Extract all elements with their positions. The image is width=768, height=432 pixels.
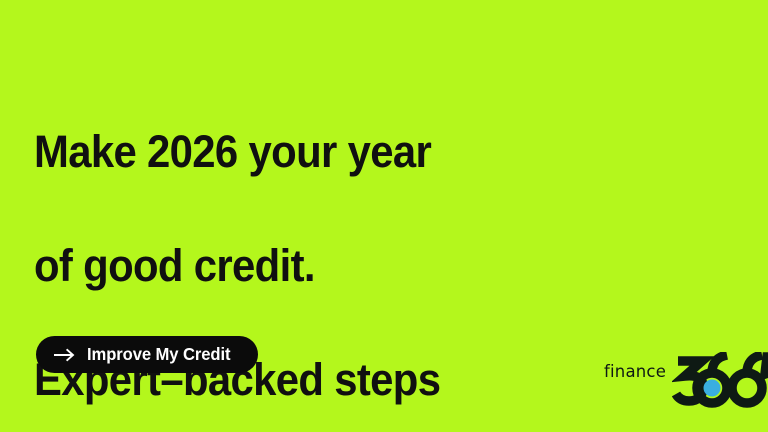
- headline-line-1: Make 2026 your year: [34, 123, 471, 180]
- logo-365-mark: [672, 352, 768, 410]
- finance365-logo: finance: [604, 352, 768, 410]
- arrow-right-icon: [53, 348, 75, 362]
- advertisement-banner: Make 2026 your year of good credit. Expe…: [0, 0, 768, 432]
- headline: Make 2026 your year of good credit. Expe…: [34, 66, 471, 432]
- headline-line-2: of good credit.: [34, 237, 471, 294]
- logo-wordmark-finance: finance: [604, 364, 666, 381]
- logo-dot: [704, 380, 721, 397]
- cta-button-label: Improve My Credit: [87, 346, 230, 364]
- improve-my-credit-button[interactable]: Improve My Credit: [36, 336, 258, 373]
